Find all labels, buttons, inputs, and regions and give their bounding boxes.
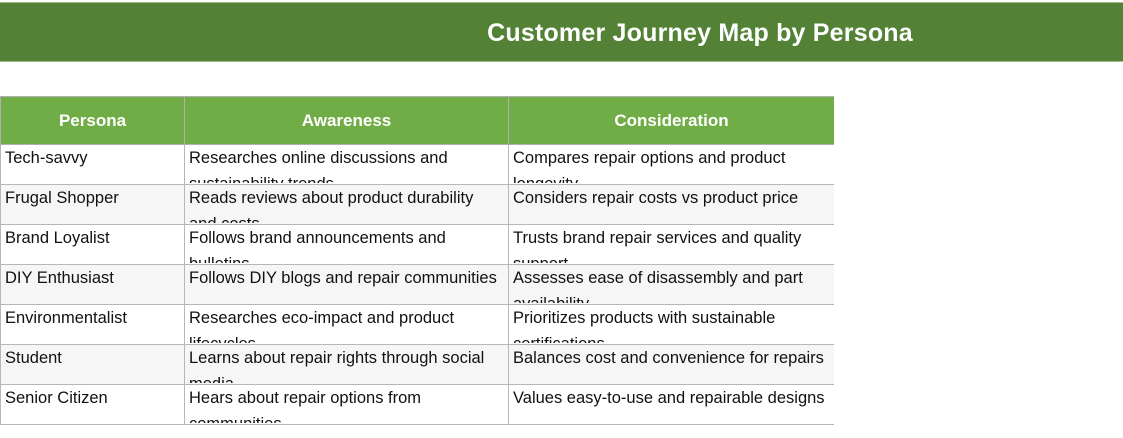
consideration-text: Values easy-to-use and repairable design… — [513, 385, 830, 411]
persona-label: Tech-savvy — [5, 145, 180, 171]
consideration-text: Compares repair options and product long… — [513, 145, 830, 183]
cell-awareness: Reads reviews about product durability a… — [185, 185, 509, 225]
table-row[interactable]: DIY Enthusiast Follows DIY blogs and rep… — [1, 265, 835, 305]
awareness-text: Follows DIY blogs and repair communities — [189, 265, 504, 291]
consideration-text: Prioritizes products with sustainable ce… — [513, 305, 830, 343]
cell-consideration: Trusts brand repair services and quality… — [509, 225, 835, 265]
cell-persona: Environmentalist — [1, 305, 185, 345]
cell-persona: Student — [1, 345, 185, 385]
consideration-text: Trusts brand repair services and quality… — [513, 225, 830, 263]
table-row[interactable]: Environmentalist Researches eco-impact a… — [1, 305, 835, 345]
cell-consideration: Compares repair options and product long… — [509, 145, 835, 185]
cell-awareness: Researches online discussions and sustai… — [185, 145, 509, 185]
journey-table-wrapper: Persona Awareness Consideration Tech-sav… — [0, 96, 834, 425]
persona-label: Student — [5, 345, 180, 371]
column-header-awareness[interactable]: Awareness — [185, 97, 509, 145]
persona-label: Senior Citizen — [5, 385, 180, 411]
column-header-consideration[interactable]: Consideration — [509, 97, 835, 145]
cell-consideration: Assesses ease of disassembly and part av… — [509, 265, 835, 305]
cell-consideration: Values easy-to-use and repairable design… — [509, 385, 835, 425]
cell-consideration: Prioritizes products with sustainable ce… — [509, 305, 835, 345]
awareness-text: Reads reviews about product durability a… — [189, 185, 504, 223]
cell-awareness: Follows brand announcements and bulletin… — [185, 225, 509, 265]
table-row[interactable]: Senior Citizen Hears about repair option… — [1, 385, 835, 425]
cell-awareness: Learns about repair rights through socia… — [185, 345, 509, 385]
table-row[interactable]: Brand Loyalist Follows brand announcemen… — [1, 225, 835, 265]
title-banner: Customer Journey Map by Persona — [0, 2, 1123, 62]
customer-journey-table: Persona Awareness Consideration Tech-sav… — [0, 96, 834, 425]
awareness-text: Learns about repair rights through socia… — [189, 345, 504, 383]
persona-label: Brand Loyalist — [5, 225, 180, 251]
cell-consideration: Balances cost and convenience for repair… — [509, 345, 835, 385]
table-header-row: Persona Awareness Consideration — [1, 97, 835, 145]
persona-label: Frugal Shopper — [5, 185, 180, 211]
page-title: Customer Journey Map by Persona — [0, 3, 1123, 62]
cell-awareness: Follows DIY blogs and repair communities — [185, 265, 509, 305]
table-body: Tech-savvy Researches online discussions… — [1, 145, 835, 425]
consideration-text: Assesses ease of disassembly and part av… — [513, 265, 830, 303]
cell-persona: DIY Enthusiast — [1, 265, 185, 305]
consideration-text: Balances cost and convenience for repair… — [513, 345, 830, 371]
persona-label: DIY Enthusiast — [5, 265, 180, 291]
cell-persona: Senior Citizen — [1, 385, 185, 425]
cell-awareness: Researches eco-impact and product lifecy… — [185, 305, 509, 345]
consideration-text: Considers repair costs vs product price — [513, 185, 830, 211]
awareness-text: Hears about repair options from communit… — [189, 385, 504, 423]
awareness-text: Follows brand announcements and bulletin… — [189, 225, 504, 263]
cell-persona: Tech-savvy — [1, 145, 185, 185]
persona-label: Environmentalist — [5, 305, 180, 331]
awareness-text: Researches online discussions and sustai… — [189, 145, 504, 183]
cell-consideration: Considers repair costs vs product price — [509, 185, 835, 225]
title-banner-clip: Customer Journey Map by Persona — [0, 3, 1123, 62]
cell-awareness: Hears about repair options from communit… — [185, 385, 509, 425]
table-row[interactable]: Student Learns about repair rights throu… — [1, 345, 835, 385]
column-header-persona[interactable]: Persona — [1, 97, 185, 145]
cell-persona: Brand Loyalist — [1, 225, 185, 265]
awareness-text: Researches eco-impact and product lifecy… — [189, 305, 504, 343]
table-header: Persona Awareness Consideration — [1, 97, 835, 145]
table-row[interactable]: Frugal Shopper Reads reviews about produ… — [1, 185, 835, 225]
page-canvas: Customer Journey Map by Persona Persona … — [0, 0, 1123, 438]
cell-persona: Frugal Shopper — [1, 185, 185, 225]
table-row[interactable]: Tech-savvy Researches online discussions… — [1, 145, 835, 185]
